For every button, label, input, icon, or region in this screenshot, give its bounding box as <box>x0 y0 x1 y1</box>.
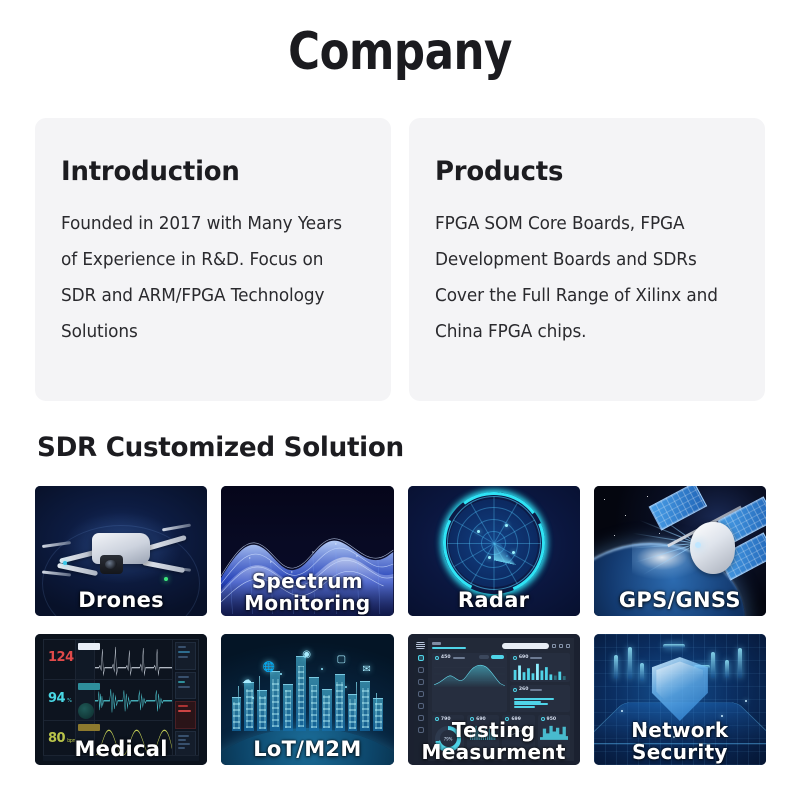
gear-icon <box>418 691 424 697</box>
solution-tile-medical[interactable]: 124bpm 94% 80bpm <box>35 634 207 765</box>
solution-tile-network-security[interactable]: Network Security <box>594 634 766 765</box>
solution-tile-grid: Drones <box>35 486 766 765</box>
bell-icon <box>418 679 424 685</box>
solution-tile-label: Network Security <box>594 719 766 763</box>
card-introduction-title: Introduction <box>61 156 353 187</box>
avatar <box>566 644 570 648</box>
solution-tile-radar[interactable]: Radar <box>408 486 580 616</box>
card-introduction-body: Founded in 2017 with Many Years of Exper… <box>61 206 354 350</box>
mail-icon: ✉ <box>362 665 370 675</box>
medical-reading-value: 94% <box>48 691 71 706</box>
hamburger-icon <box>416 642 425 649</box>
company-overview-page: Company Introduction Founded in 2017 wit… <box>0 0 800 800</box>
solution-tile-spectrum-monitoring[interactable]: Spectrum Monitoring <box>221 486 393 616</box>
card-products: Products FPGA SOM Core Boards, FPGA Deve… <box>409 118 765 401</box>
wifi-icon: ◉ <box>302 650 311 660</box>
card-introduction: Introduction Founded in 2017 with Many Y… <box>35 118 391 401</box>
solution-tile-label: Drones <box>35 589 207 612</box>
card-products-title: Products <box>435 156 727 187</box>
solution-tile-iot-m2m[interactable]: ◉ 🌐 ☁ ▢ ✉ LoT/M2M <box>221 634 393 765</box>
chart-icon <box>418 667 424 673</box>
globe-icon: 🌐 <box>263 663 275 673</box>
info-cards-row: Introduction Founded in 2017 with Many Y… <box>35 118 765 401</box>
cloud-icon: ☁ <box>242 676 252 686</box>
solution-tile-label: GPS/GNSS <box>594 589 766 612</box>
solution-tile-label: Spectrum Monitoring <box>221 570 393 614</box>
solution-tile-gps-gnss[interactable]: GPS/GNSS <box>594 486 766 616</box>
page-title: Company <box>28 22 772 82</box>
solution-tile-label: Medical <box>35 738 207 761</box>
search-icon <box>552 644 556 648</box>
solution-tile-label: Testing Measurment <box>408 719 580 763</box>
bell-icon <box>559 644 563 648</box>
section-title-sdr-customized-solution: SDR Customized Solution <box>37 432 404 463</box>
solution-tile-drones[interactable]: Drones <box>35 486 207 616</box>
solution-tile-testing-measurement[interactable]: 450 <box>408 634 580 765</box>
solution-tile-label: LoT/M2M <box>221 738 393 761</box>
solution-tile-label: Radar <box>408 589 580 612</box>
medical-reading-unit: % <box>67 698 71 704</box>
card-products-body: FPGA SOM Core Boards, FPGA Development B… <box>435 206 728 350</box>
monitor-icon: ▢ <box>337 655 346 665</box>
home-icon <box>418 655 424 661</box>
user-icon <box>418 703 424 709</box>
